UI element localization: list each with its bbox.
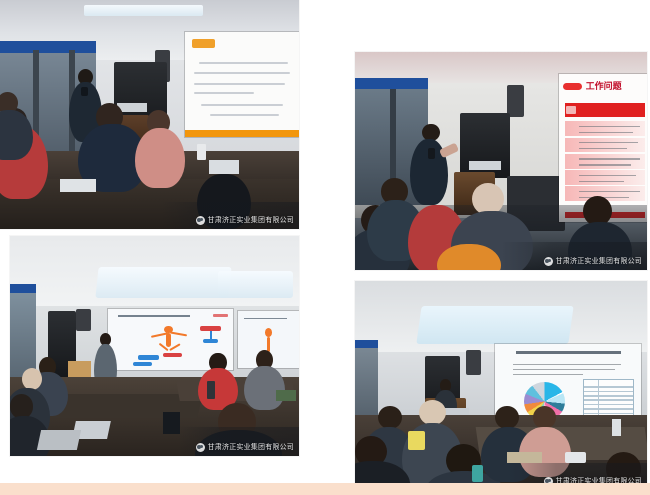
wall-speaker [466, 350, 481, 375]
slide-text-line [199, 62, 288, 64]
pie-chart-presentation-scene: 甘肃济正实业集团有限公司 [355, 281, 647, 490]
slide-title-accent [563, 83, 582, 90]
slide-title-line [118, 315, 190, 317]
photo-top-left[interactable]: 甘肃济正实业集团有限公司 [0, 0, 299, 229]
meeting-room-scene: 甘肃济正实业集团有限公司 [0, 0, 299, 229]
legend-row-divider [584, 404, 634, 406]
attendee-head [10, 394, 33, 418]
watermark: 甘肃济正实业集团有限公司 [544, 256, 642, 266]
table-row [565, 154, 646, 169]
blue-ceiling-band [0, 41, 96, 52]
slide-logo [213, 314, 228, 318]
ceiling-light-panel [417, 306, 574, 344]
projection-screen [185, 32, 299, 137]
paper-sheet [60, 179, 96, 193]
cell-text [579, 158, 640, 160]
table-row [565, 170, 646, 185]
water-bottle [197, 144, 206, 160]
legend-row-divider [584, 395, 634, 397]
photo-bottom-left[interactable]: 甘肃济正实业集团有限公司 [10, 236, 299, 456]
table-header-bar [565, 103, 646, 116]
photo-top-right[interactable]: 工作问题 [355, 52, 647, 270]
slide-text-line [201, 104, 283, 106]
company-seal-logo [196, 216, 205, 225]
watermark: 甘肃济正实业集团有限公司 [196, 215, 294, 225]
microphone [428, 148, 435, 159]
notebook [507, 452, 542, 462]
thermos [207, 381, 216, 399]
legend-row-divider [584, 399, 634, 401]
blue-ceiling-band [355, 340, 378, 348]
ceiling-light [84, 5, 204, 16]
slide-body-line [513, 364, 621, 366]
microphone [81, 87, 88, 96]
slide-orange-tab [192, 39, 215, 47]
blue-ceiling-band [10, 284, 36, 293]
attendee-head [419, 400, 445, 425]
ceiling-light-panel [218, 271, 293, 297]
cell-text [579, 148, 627, 150]
watermark-text: 甘肃济正实业集团有限公司 [208, 442, 294, 452]
company-seal-logo [544, 257, 553, 266]
attendee-head [22, 368, 42, 390]
photo-bottom-right[interactable]: 甘肃济正实业集团有限公司 [355, 281, 647, 490]
watermark: 甘肃济正实业集团有限公司 [196, 442, 294, 452]
slide-text-line [210, 114, 278, 116]
blue-ceiling-band [355, 78, 428, 89]
cell-text [579, 164, 632, 166]
slide-body-line [513, 369, 615, 371]
collage-page: 甘肃济正实业集团有限公司 工作问题 [0, 0, 650, 495]
laptop [469, 161, 501, 170]
slide-text-line [194, 92, 253, 94]
orange-person-torso [166, 333, 171, 347]
watermark-text: 甘肃济正实业集团有限公司 [556, 256, 642, 266]
watermark-text: 甘肃济正实业集团有限公司 [208, 215, 294, 225]
attendee-body [135, 128, 186, 188]
table-row [565, 121, 646, 136]
wall-speaker [507, 85, 525, 118]
meeting-room-wide-scene: 甘肃济正实业集团有限公司 [10, 236, 299, 456]
orange-person-arm [170, 332, 188, 337]
water-bottle [472, 465, 484, 482]
slide-title-line [244, 318, 286, 320]
slide-blue-chip [203, 339, 218, 343]
teacup [565, 452, 585, 462]
orange-person-head [265, 328, 272, 337]
bottom-accent-strip [0, 483, 650, 495]
slide-red-chip [163, 353, 182, 357]
slide-text-line [194, 83, 285, 85]
attendee-body [244, 366, 284, 410]
cell-text [579, 132, 633, 134]
table-header-cell [566, 106, 577, 113]
glass-partition [10, 284, 36, 376]
phone-in-hand [408, 431, 426, 450]
attendee-head [495, 406, 518, 429]
water-bottle [612, 419, 621, 436]
slide-blue-chip [138, 355, 159, 360]
company-seal-logo [196, 443, 205, 452]
cell-text [579, 181, 625, 183]
slide-title: 工作问题 [586, 79, 622, 92]
cell-text [579, 126, 640, 128]
legend-row-divider [584, 408, 634, 410]
table-row [565, 138, 646, 153]
presentation-scene: 工作问题 [355, 52, 647, 270]
cell-text [579, 191, 640, 193]
wall-speaker [76, 309, 90, 331]
glass-partition [355, 340, 378, 419]
slide-blue-chip [133, 362, 152, 367]
orange-person-leg [169, 343, 181, 351]
notebook [276, 390, 296, 401]
slide-text-line [194, 72, 289, 74]
legend-row-divider [584, 386, 634, 388]
cell-text [579, 175, 637, 177]
laptop [37, 430, 82, 450]
cell-text [579, 142, 639, 144]
slide-body-line [513, 374, 583, 376]
slide-title-line [516, 351, 621, 354]
ceiling-light-panel [95, 267, 231, 298]
paper-sheet [209, 160, 239, 174]
connector-line [210, 331, 212, 340]
slide-bottom-bar [185, 130, 299, 137]
legend-row-divider [584, 391, 634, 393]
attendee-head [378, 406, 401, 429]
